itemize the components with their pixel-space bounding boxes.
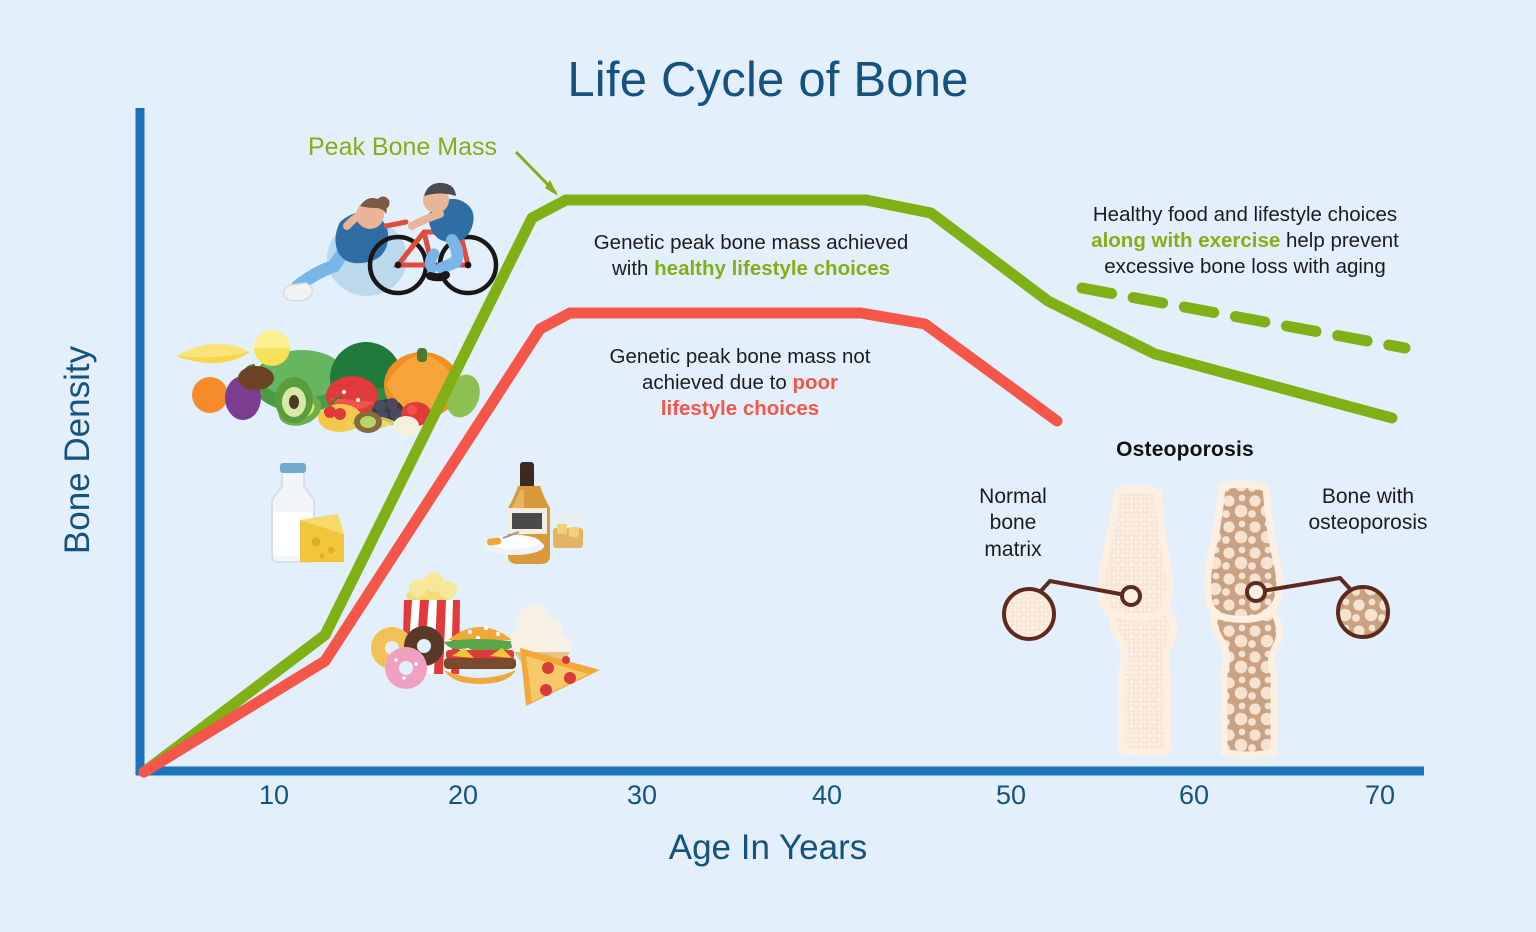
normal-bone-label-line3: matrix [984, 538, 1041, 561]
x-tick-50: 50 [981, 780, 1041, 811]
annotation-poor-lifestyle: Genetic peak bone mass not achieved due … [570, 344, 910, 423]
normal-bone-label-line2: bone [990, 511, 1037, 534]
y-axis-label: Bone Density [58, 320, 98, 580]
annotation-poor-line2-plain: achieved due to [642, 371, 792, 394]
peak-bone-mass-label: Peak Bone Mass [308, 133, 497, 162]
osteoporosis-heading: Osteoporosis [1040, 438, 1330, 462]
annotation-healthy-line1: Genetic peak bone mass achieved [594, 231, 909, 254]
annotation-aging-line3: excessive bone loss with aging [1104, 255, 1385, 278]
osteoporotic-bone-label-line2: osteoporosis [1308, 511, 1427, 534]
annotation-aging-line2-plain: help prevent [1280, 229, 1399, 252]
normal-bone-label-line1: Normal [979, 485, 1047, 508]
x-tick-40: 40 [797, 780, 857, 811]
x-tick-60: 60 [1164, 780, 1224, 811]
normal-bone-label: Normal bone matrix [958, 484, 1068, 563]
annotation-aging-prevention: Healthy food and lifestyle choices along… [1056, 202, 1434, 281]
osteoporotic-bone-label: Bone with osteoporosis [1288, 484, 1448, 537]
x-tick-70: 70 [1350, 780, 1410, 811]
infographic-canvas: Life Cycle of Bone Bone Density Age In Y… [0, 0, 1536, 932]
x-axis-label: Age In Years [0, 828, 1536, 868]
annotation-poor-line2-emph: poor [792, 371, 838, 394]
annotation-aging-line1: Healthy food and lifestyle choices [1093, 203, 1397, 226]
page-title: Life Cycle of Bone [0, 52, 1536, 108]
x-tick-10: 10 [244, 780, 304, 811]
chart-plot [0, 0, 1536, 932]
annotation-healthy-line2-emph: healthy lifestyle choices [654, 257, 890, 280]
osteoporotic-bone-label-line1: Bone with [1322, 485, 1414, 508]
annotation-healthy-lifestyle: Genetic peak bone mass achieved with hea… [556, 230, 946, 282]
x-tick-30: 30 [612, 780, 672, 811]
series-healthy-line [144, 200, 1392, 772]
annotation-poor-line3-emph: lifestyle choices [661, 397, 819, 420]
annotation-aging-line2-emph: along with exercise [1091, 229, 1280, 252]
annotation-poor-line1: Genetic peak bone mass not [610, 345, 871, 368]
annotation-healthy-line2-plain: with [612, 257, 654, 280]
data-lines [144, 200, 1405, 772]
x-tick-20: 20 [433, 780, 493, 811]
